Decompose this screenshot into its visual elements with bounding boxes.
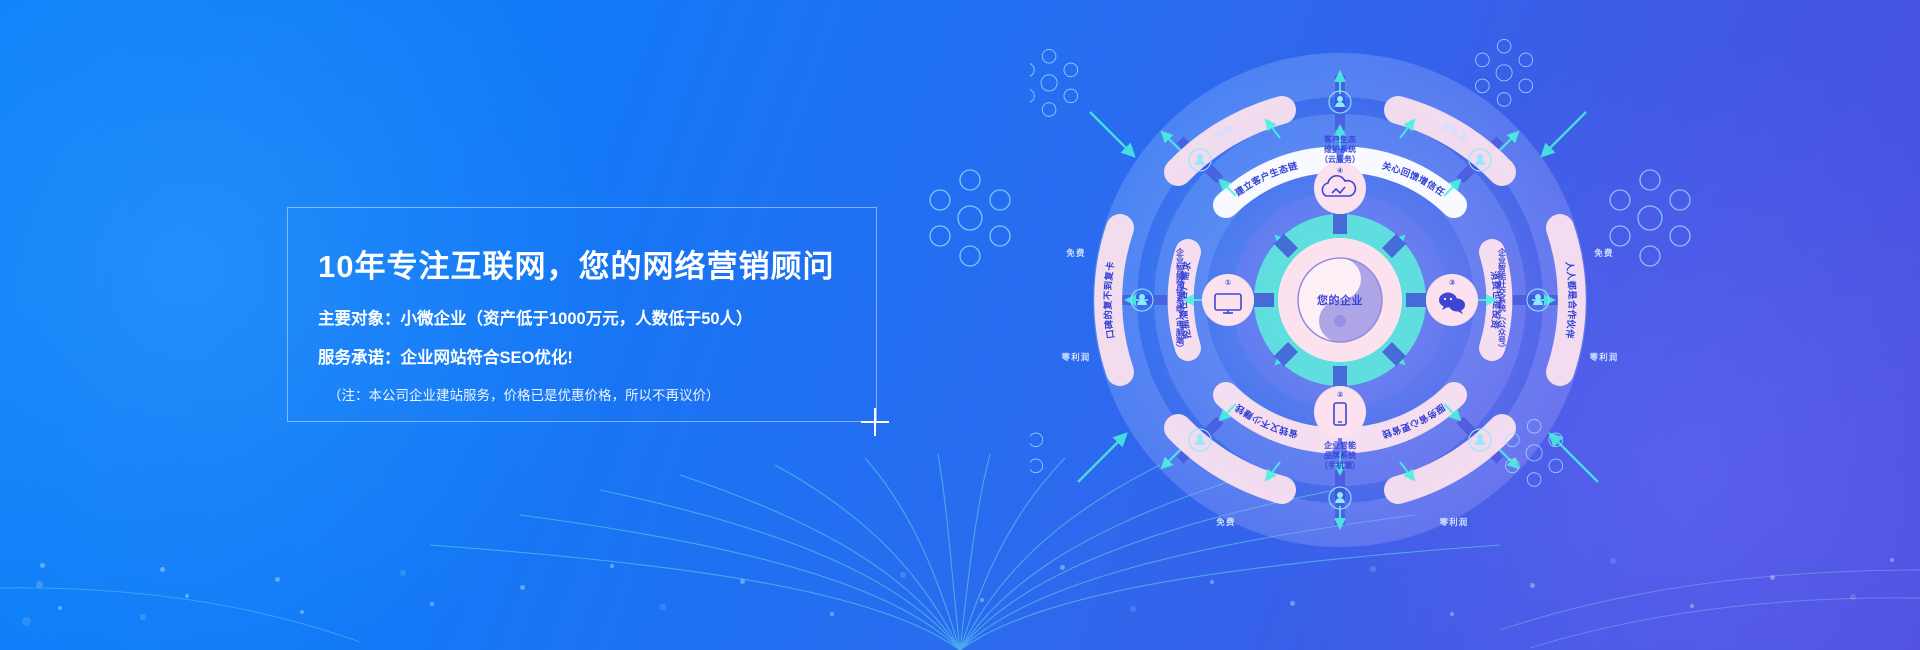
page-title: 10年专注互联网，您的网络营销顾问	[318, 250, 876, 284]
outer-tag-3: 零利润	[1589, 352, 1619, 362]
outer-tag-2: 免费	[1594, 248, 1613, 258]
outer-tag-5: 零利润	[1061, 352, 1091, 362]
system-node-top[interactable]: ④	[1314, 162, 1366, 214]
system-num-2: ②	[1337, 390, 1343, 399]
outer-tag-4: 免费	[1066, 248, 1085, 258]
system-label-top-0: 客户生态	[1323, 134, 1356, 144]
system-num-4: ④	[1337, 166, 1343, 175]
outer-tag-6: 免费	[1216, 517, 1235, 527]
system-label-top-2: （云服务）	[1320, 154, 1360, 164]
system-num-1: ①	[1225, 278, 1232, 287]
promo-line-target: 主要对象：小微企业（资产低于1000万元，人数低于50人）	[318, 310, 876, 330]
marketing-ecosystem-diagram: 建立客户生态链 关心回馈增信任 消费也是投资 服务省心更省钱 省钱又不少赚钱 挖…	[1030, 20, 1650, 550]
system-label-right: 企业智能社交系统（公众号）	[1497, 247, 1507, 352]
system-label-bottom-1: 品牌系统	[1324, 450, 1356, 460]
system-node-bottom[interactable]: ②	[1314, 386, 1366, 438]
promo-text-card: 10年专注互联网，您的网络营销顾问 主要对象：小微企业（资产低于1000万元，人…	[287, 207, 877, 422]
system-label-top-1: 维护系统	[1324, 144, 1356, 154]
people-network-icon	[1030, 49, 1078, 116]
promo-banner: 10年专注互联网，您的网络营销顾问 主要对象：小微企业（资产低于1000万元，人…	[0, 0, 1920, 650]
promo-note: （注：本公司企业建站服务，价格已是优惠价格，所以不再议价）	[328, 388, 876, 404]
promo-line-commitment: 服务承诺：企业网站符合SEO优化!	[318, 349, 876, 369]
system-node-left[interactable]: ①	[1202, 274, 1254, 326]
system-label-left: 企业智能营销系统（电脑端）	[1175, 247, 1185, 352]
system-node-right[interactable]: ③	[1426, 274, 1478, 326]
center-label: 您的企业	[1317, 293, 1363, 307]
system-label-bottom-0: 企业智能	[1323, 440, 1356, 450]
system-label-bottom-2: （手机端）	[1320, 460, 1360, 470]
system-num-3: ③	[1449, 278, 1455, 287]
outer-tag-7: 零利润	[1439, 517, 1469, 527]
